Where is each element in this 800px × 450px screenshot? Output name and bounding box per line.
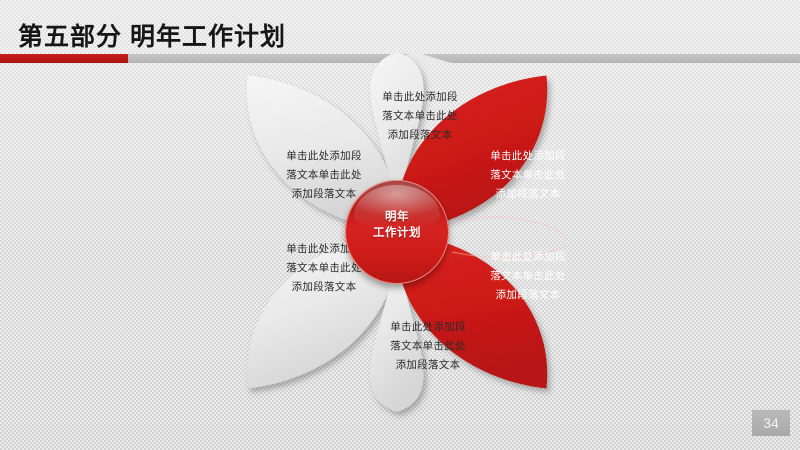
slide-canvas: 第五部分 明年工作计划 xyxy=(0,0,800,450)
petal-seam-lines xyxy=(452,217,566,257)
flower-diagram: 单击此处添加段 落文本单击此处 添加段落文本 单击此处添加段 落文本单击此处 添… xyxy=(0,0,800,450)
page-number-badge: 34 xyxy=(752,410,790,436)
center-label: 明年 工作计划 xyxy=(345,209,449,241)
